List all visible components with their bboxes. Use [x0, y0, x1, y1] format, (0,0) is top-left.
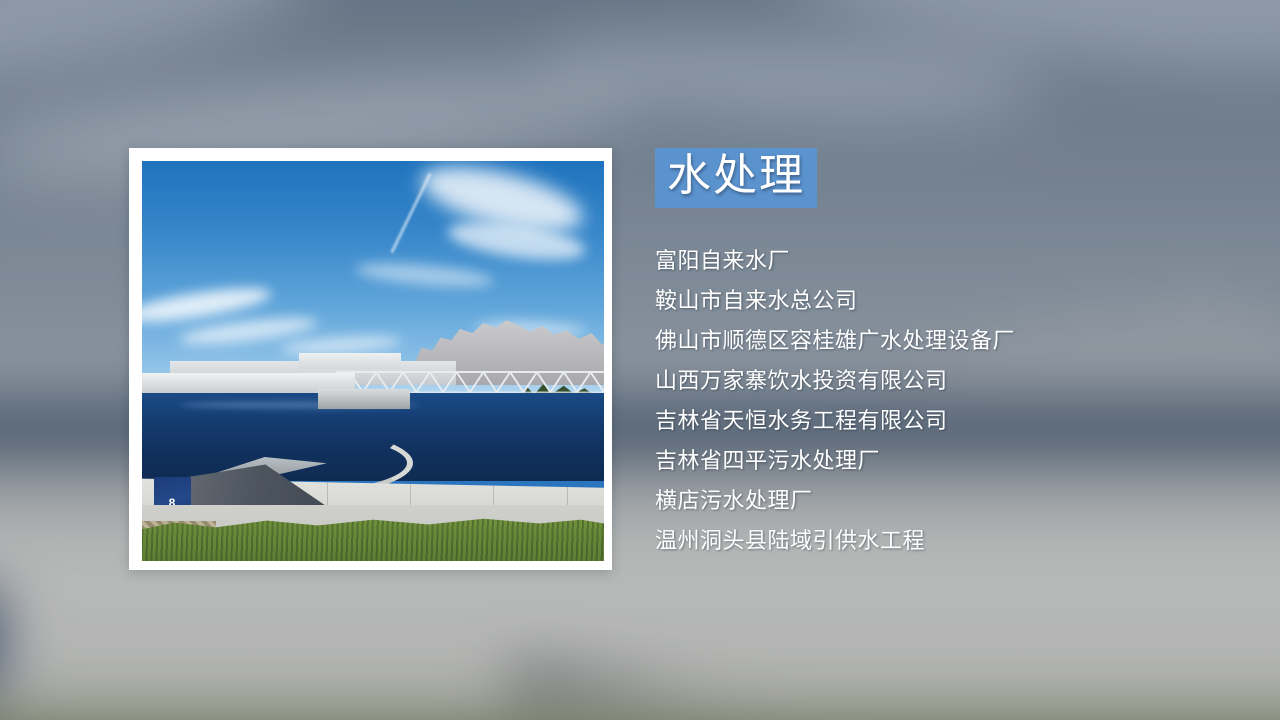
list-item: 富阳自来水厂	[655, 241, 1255, 281]
list-item: 横店污水处理厂	[655, 481, 1255, 521]
list-item: 温州洞头县陆域引供水工程	[655, 521, 1255, 561]
list-item: 鞍山市自来水总公司	[655, 281, 1255, 321]
list-item: 吉林省四平污水处理厂	[655, 441, 1255, 481]
photo-frame: 8	[129, 148, 612, 570]
page-title: 水处理	[667, 153, 805, 199]
photo-low-buildings	[299, 353, 401, 369]
title-highlight-box: 水处理	[655, 148, 817, 208]
list-item: 佛山市顺德区容桂雄广水处理设备厂	[655, 321, 1255, 361]
list-item: 吉林省天恒水务工程有限公司	[655, 401, 1255, 441]
client-list: 富阳自来水厂 鞍山市自来水总公司 佛山市顺德区容桂雄广水处理设备厂 山西万家寨饮…	[655, 241, 1255, 561]
photo-pier	[318, 389, 410, 409]
list-item: 山西万家寨饮水投资有限公司	[655, 361, 1255, 401]
slide-root: 8 水处理 富阳自来水厂 鞍山市自来水总公司 佛山市顺德区容桂雄广水处理设备厂 …	[0, 0, 1280, 720]
content-column: 水处理 富阳自来水厂 鞍山市自来水总公司 佛山市顺德区容桂雄广水处理设备厂 山西…	[655, 148, 1255, 561]
photo-image: 8	[142, 161, 604, 561]
